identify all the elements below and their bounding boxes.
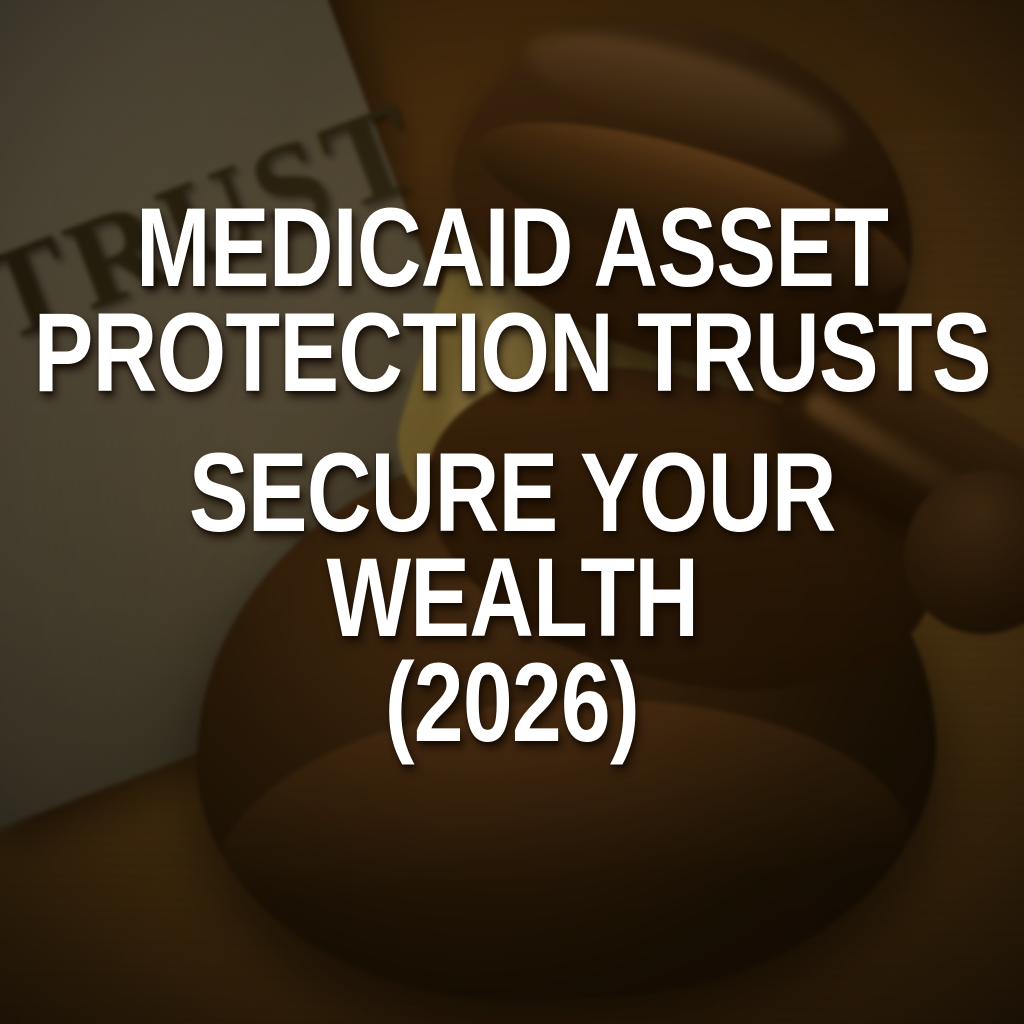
headline-line-5: (2026) — [385, 651, 639, 756]
headline-block: MEDICAID ASSET PROTECTION TRUSTS SECURE … — [0, 196, 1024, 756]
headline-line-4: WEALTH — [326, 546, 698, 651]
headline-line-3: SECURE YOUR — [189, 441, 836, 546]
headline-line-1: MEDICAID ASSET — [136, 196, 888, 301]
poster-canvas: TRUST MEDICAID ASSET PROTECTION TRUSTS S… — [0, 0, 1024, 1024]
headline-line-2: PROTECTION TRUSTS — [33, 301, 990, 406]
